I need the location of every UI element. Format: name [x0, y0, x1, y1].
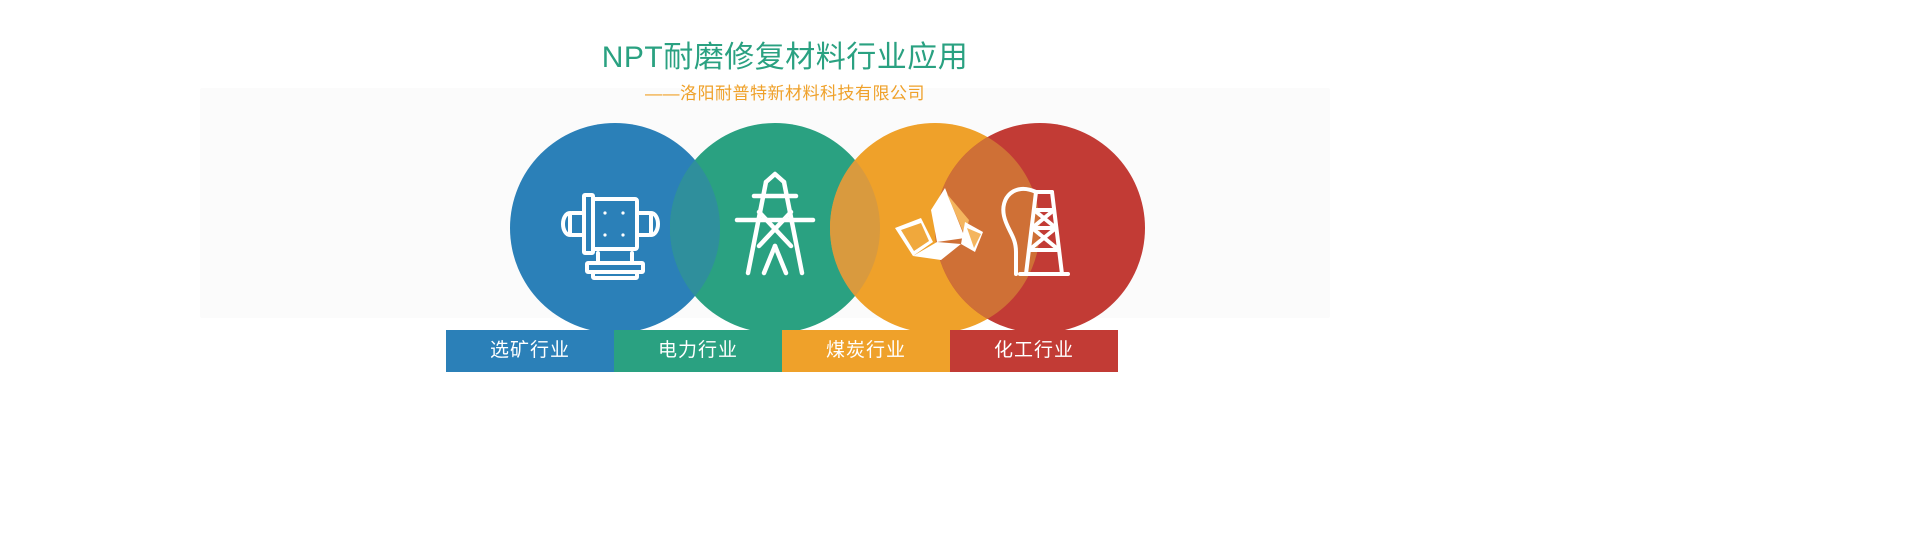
label-chemical[interactable]: 化工行业	[950, 330, 1118, 372]
industry-label-bar: 选矿行业 电力行业 煤炭行业 化工行业	[446, 330, 1118, 372]
banner-root: NPT耐磨修复材料行业应用 ——洛阳耐普特新材料科技有限公司	[0, 0, 1920, 540]
label-coal[interactable]: 煤炭行业	[782, 330, 950, 372]
industry-graphic	[405, 122, 1145, 332]
heading-block: NPT耐磨修复材料行业应用 ——洛阳耐普特新材料科技有限公司	[0, 38, 1570, 106]
label-mining[interactable]: 选矿行业	[446, 330, 614, 372]
label-power[interactable]: 电力行业	[614, 330, 782, 372]
page-subtitle: ——洛阳耐普特新材料科技有限公司	[0, 82, 1570, 106]
page-title: NPT耐磨修复材料行业应用	[0, 38, 1570, 78]
